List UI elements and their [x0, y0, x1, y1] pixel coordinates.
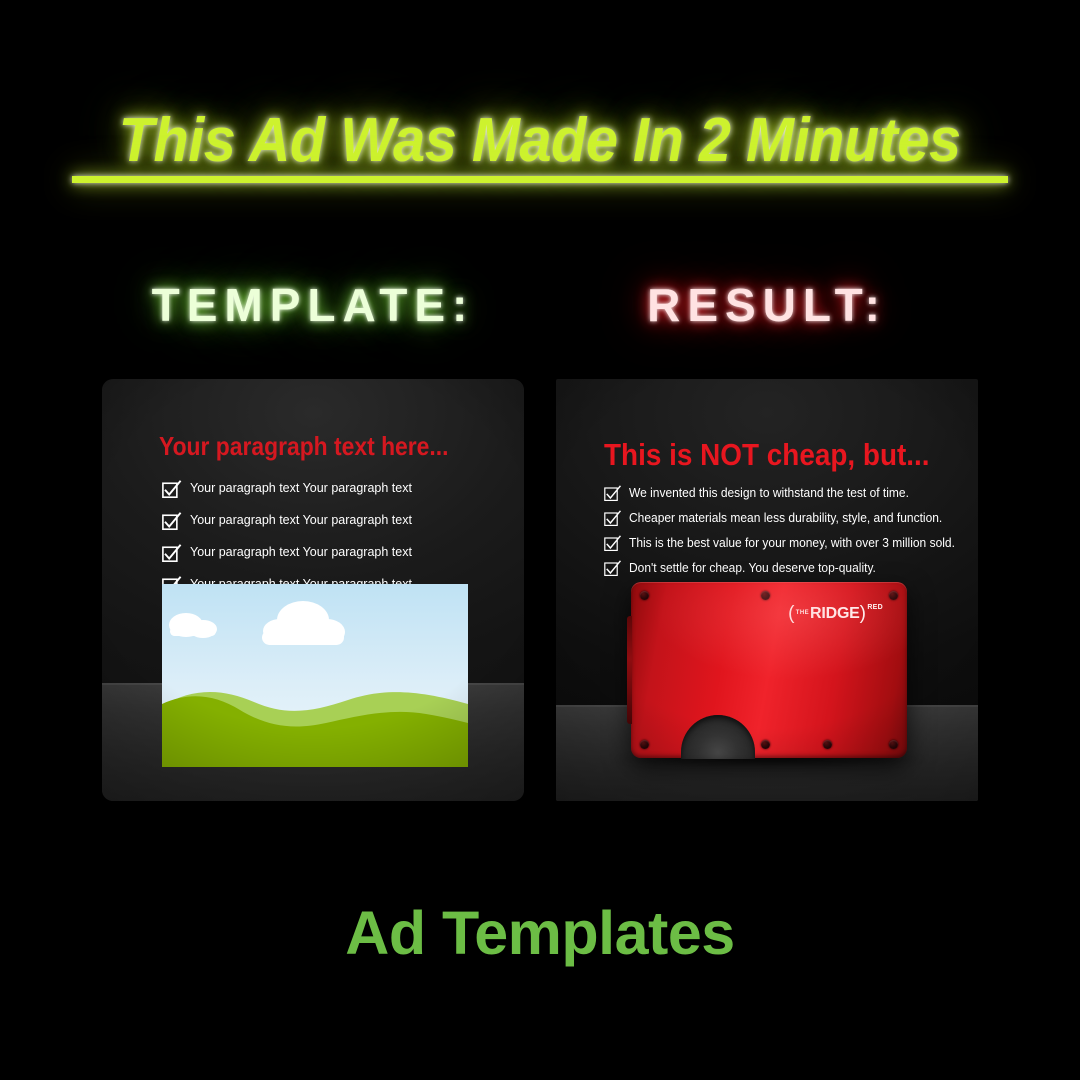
wallet-screw: [823, 740, 832, 749]
checkbox-checked-icon: [162, 481, 180, 499]
list-item-label: Your paragraph text Your paragraph text: [190, 480, 412, 497]
ridge-logo-wordmark: RIDGE: [810, 604, 860, 623]
template-card[interactable]: Your paragraph text here... Your paragra…: [102, 379, 524, 801]
list-item-label: Your paragraph text Your paragraph text: [190, 512, 412, 529]
template-card-heading: Your paragraph text here...: [159, 431, 448, 462]
template-column-label: TEMPLATE:: [102, 278, 524, 332]
ridge-logo-superscript: RED: [867, 604, 883, 612]
list-item-label: Your paragraph text Your paragraph text: [190, 544, 412, 561]
wallet-screw: [889, 740, 898, 749]
wallet-screw: [889, 591, 898, 600]
list-item: Your paragraph text Your paragraph text: [162, 512, 524, 531]
result-column-label: RESULT:: [556, 278, 978, 332]
ad-canvas: This Ad Was Made In 2 Minutes TEMPLATE: …: [0, 0, 1080, 1080]
wallet-side-edge: [627, 616, 632, 724]
checkbox-checked-icon: [162, 545, 180, 563]
ridge-logo-the: THE: [796, 610, 809, 616]
ridge-logo: ( THE RIDGE ) RED: [788, 604, 883, 623]
wallet-screw: [761, 740, 770, 749]
list-item: Your paragraph text Your paragraph text: [162, 544, 524, 563]
wallet-screw: [640, 740, 649, 749]
list-item: Your paragraph text Your paragraph text: [162, 480, 524, 499]
wallet-thumb-notch: [681, 715, 755, 759]
ridge-logo-open-paren: (: [788, 604, 795, 623]
page-title: This Ad Was Made In 2 Minutes: [119, 104, 961, 184]
ridge-logo-close-paren: ): [860, 604, 867, 623]
wallet-screw: [761, 591, 770, 600]
product-photo[interactable]: ( THE RIDGE ) RED: [556, 379, 978, 801]
placeholder-landscape-image[interactable]: [162, 584, 468, 767]
ridge-wallet: ( THE RIDGE ) RED: [631, 582, 907, 758]
footer-title: Ad Templates: [0, 896, 1080, 970]
headline-underline: [72, 176, 1008, 183]
result-card[interactable]: This is NOT cheap, but... We invented th…: [556, 379, 978, 801]
checkbox-checked-icon: [162, 513, 180, 531]
headline-block: This Ad Was Made In 2 Minutes: [0, 104, 1080, 184]
wallet-screw: [640, 591, 649, 600]
